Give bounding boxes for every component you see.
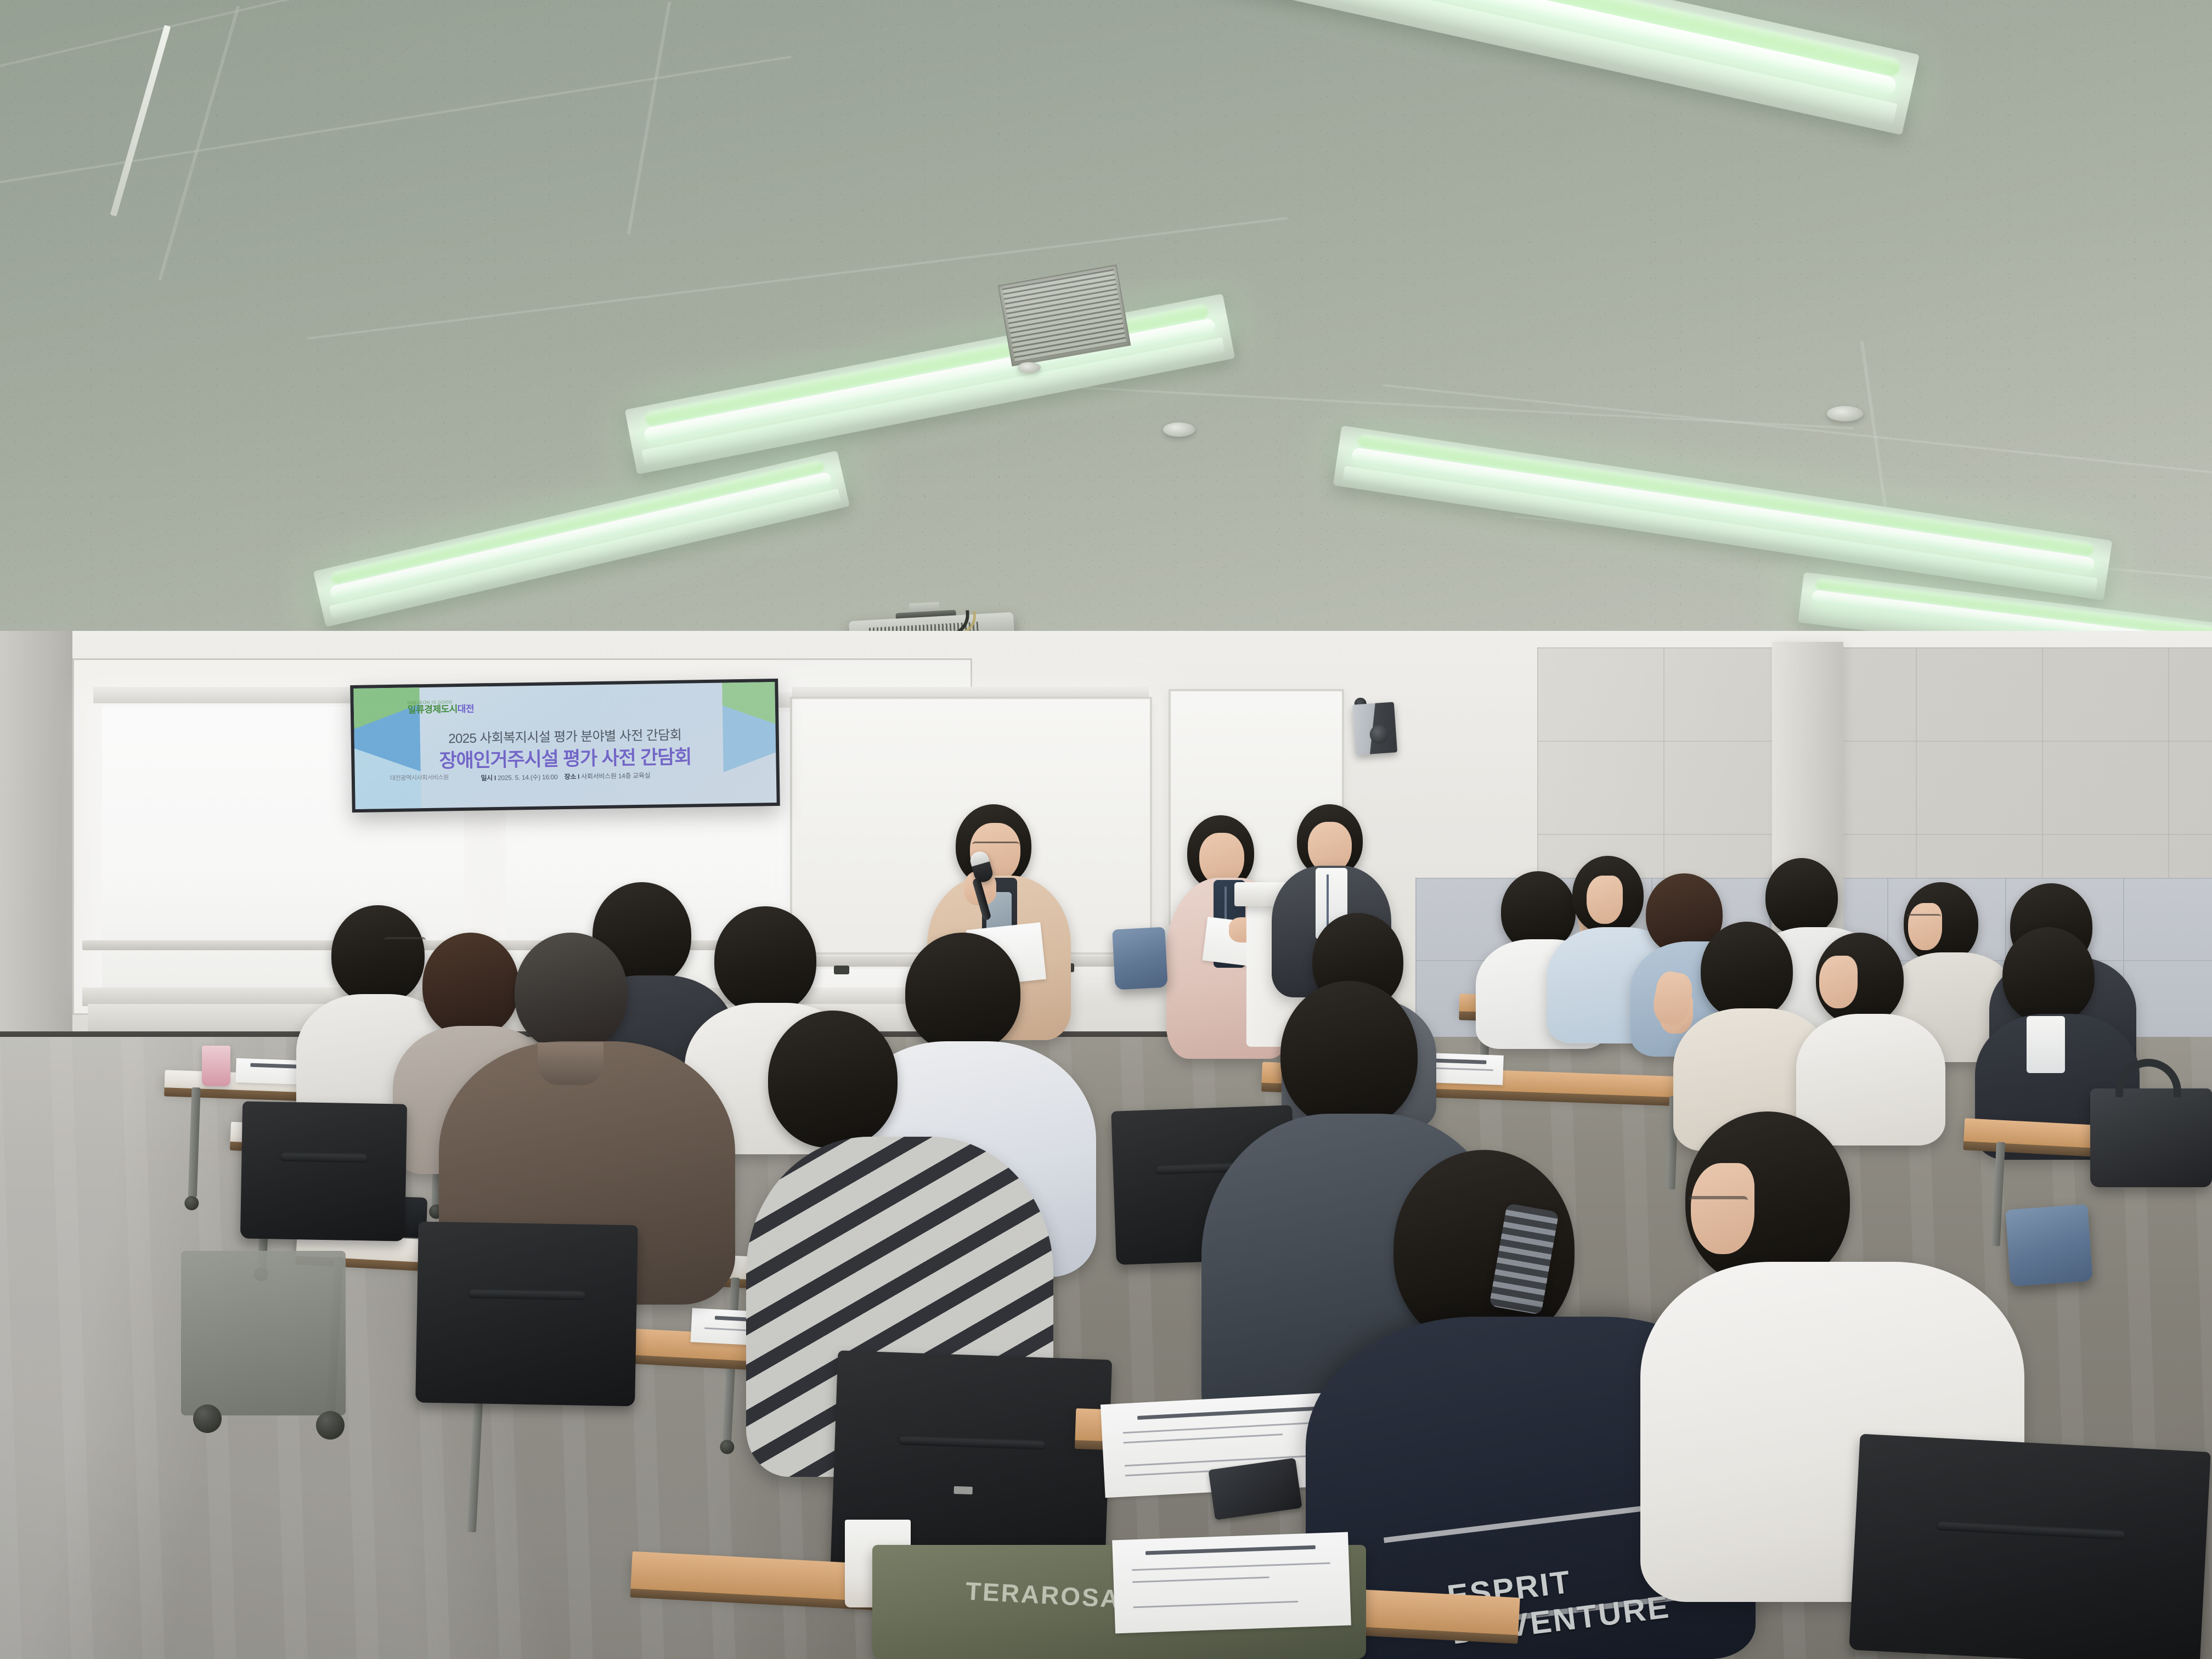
drink-cup bbox=[202, 1046, 230, 1086]
attendee-glasses bbox=[1689, 1196, 1748, 1209]
seminar-room-photo: DAEJEON IS GOOD 일류경제도시대전 2025 사회복지시설 평가 … bbox=[0, 0, 2212, 1659]
slide-meta-date-label: 일시 I bbox=[481, 774, 496, 782]
attendee-head bbox=[714, 906, 816, 1014]
cart-caster bbox=[193, 1404, 222, 1433]
chair[interactable] bbox=[1849, 1434, 2211, 1659]
chair-back bbox=[415, 1222, 638, 1407]
smoke-detector bbox=[1018, 362, 1041, 373]
wall-speaker bbox=[1352, 702, 1397, 755]
slide-logo-accent-text: 대전 bbox=[458, 704, 475, 714]
attendee-head bbox=[331, 905, 425, 1004]
attendee-jacket-collar bbox=[538, 1042, 603, 1085]
board-clip bbox=[834, 966, 849, 974]
attendee-glasses bbox=[384, 937, 426, 946]
smoke-detector bbox=[1827, 406, 1863, 421]
chair[interactable] bbox=[240, 1101, 407, 1241]
attendee-head bbox=[1701, 922, 1793, 1019]
presenter-glasses bbox=[972, 842, 1019, 850]
chair-back bbox=[240, 1101, 407, 1241]
slide-meta-place: 사회서비스원 14층 교육실 bbox=[581, 772, 650, 781]
attendee-shirt-collar bbox=[2027, 1016, 2065, 1073]
handout-paper bbox=[1112, 1532, 1351, 1634]
chair-handle-slot bbox=[467, 1288, 586, 1300]
attendee-shirt bbox=[1796, 1014, 1945, 1145]
attendee-glasses bbox=[1907, 914, 1941, 922]
left-pillar bbox=[0, 631, 72, 1048]
slide-meta-place-label: 장소 I bbox=[564, 773, 579, 781]
chair-back bbox=[2005, 1204, 2092, 1286]
attendee-head bbox=[1765, 858, 1838, 936]
attendee-head bbox=[768, 1011, 898, 1148]
smoke-detector bbox=[1163, 422, 1195, 437]
attendee-face bbox=[1587, 876, 1623, 924]
slide-city-logo: DAEJEON IS GOOD 일류경제도시대전 bbox=[408, 699, 490, 714]
attendee-head bbox=[515, 933, 628, 1051]
chair[interactable] bbox=[1112, 927, 1168, 990]
chair[interactable] bbox=[415, 1222, 638, 1407]
equipment-cart bbox=[181, 1251, 346, 1415]
chair[interactable] bbox=[2005, 1204, 2092, 1286]
chair-back bbox=[1849, 1434, 2211, 1659]
attendee-face bbox=[1908, 903, 1942, 950]
slide-logo-main-text: 일류경제도시 bbox=[408, 704, 458, 715]
slide-logo-main: 일류경제도시대전 bbox=[408, 704, 490, 714]
attendee-head bbox=[2002, 927, 2095, 1024]
slide-meta-date: 2025. 5. 14.(수) 16:00 bbox=[498, 773, 558, 782]
slide-footer-org: 대전광역시사회서비스원 bbox=[390, 772, 449, 782]
projected-slide: DAEJEON IS GOOD 일류경제도시대전 2025 사회복지시설 평가 … bbox=[353, 682, 776, 809]
chair-handle-slot bbox=[279, 1152, 368, 1163]
handbag bbox=[2090, 1088, 2212, 1187]
handout-title-line bbox=[1137, 1406, 1323, 1420]
attendee-head bbox=[422, 933, 519, 1037]
projection-screen: DAEJEON IS GOOD 일류경제도시대전 2025 사회복지시설 평가 … bbox=[350, 679, 780, 812]
chair-label bbox=[953, 1486, 972, 1494]
attendee-head bbox=[1280, 981, 1418, 1128]
chair-back bbox=[1112, 927, 1168, 990]
ceiling bbox=[0, 0, 2212, 708]
cart-caster bbox=[316, 1411, 345, 1440]
attendee-face bbox=[1819, 956, 1858, 1008]
attendee-head bbox=[905, 933, 1020, 1052]
